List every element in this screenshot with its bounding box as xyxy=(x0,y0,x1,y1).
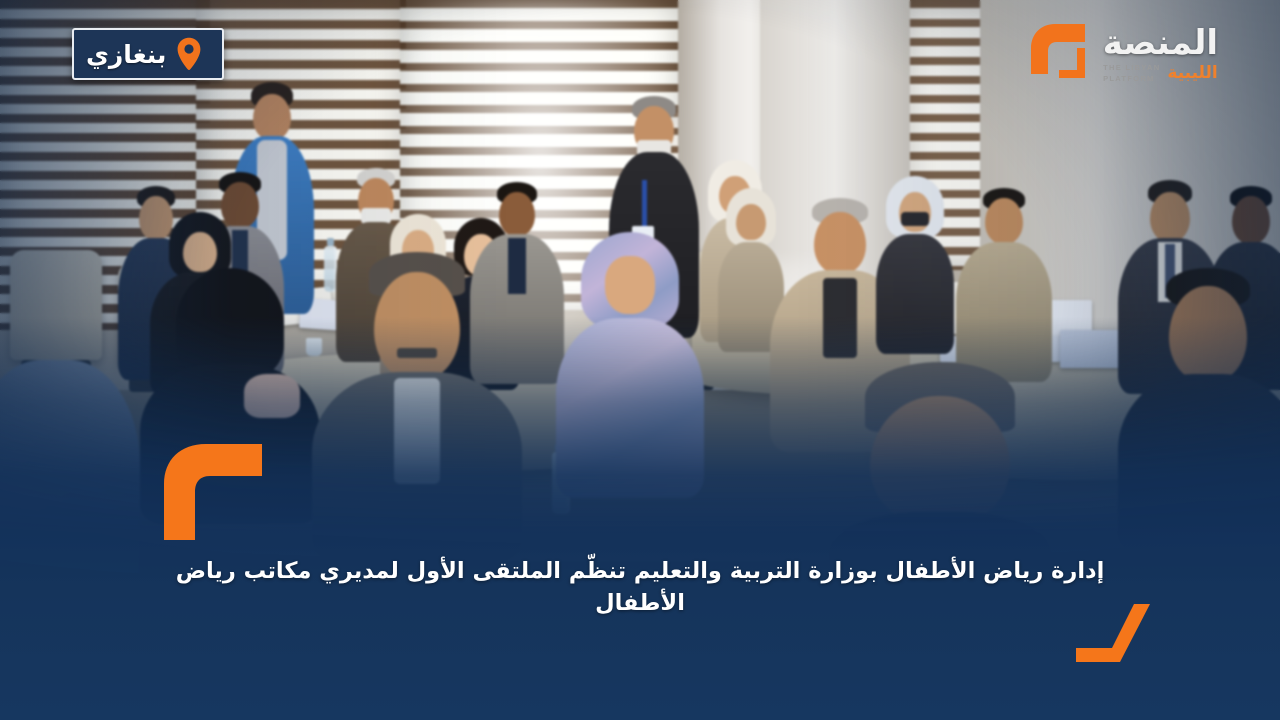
logo-subtitle-ar: الليبية xyxy=(1167,65,1217,82)
orange-bracket-top-left-icon xyxy=(158,440,266,540)
logo-subtitle-row: الليبية THE LIBYAN PLATFORM xyxy=(1103,63,1218,83)
logo-subtitle-en-line2: PLATFORM xyxy=(1103,74,1155,83)
news-card: بنغازي المنصة الليبية THE LIBYAN PLATFOR… xyxy=(0,0,1280,720)
logo-name-ar: المنصة xyxy=(1103,26,1218,60)
map-pin-icon xyxy=(176,37,202,71)
location-badge[interactable]: بنغازي xyxy=(72,28,224,80)
logo-subtitle-en: THE LIBYAN PLATFORM xyxy=(1103,63,1160,83)
logo-wordmark: المنصة الليبية THE LIBYAN PLATFORM xyxy=(1103,26,1218,83)
channel-logo[interactable]: المنصة الليبية THE LIBYAN PLATFORM xyxy=(1023,18,1218,92)
location-label: بنغازي xyxy=(86,42,166,67)
double-bracket-logo-icon xyxy=(1023,18,1095,92)
news-caption: إدارة رياض الأطفال بوزارة التربية والتعل… xyxy=(0,556,1280,620)
logo-subtitle-en-line1: THE LIBYAN xyxy=(1103,63,1160,72)
